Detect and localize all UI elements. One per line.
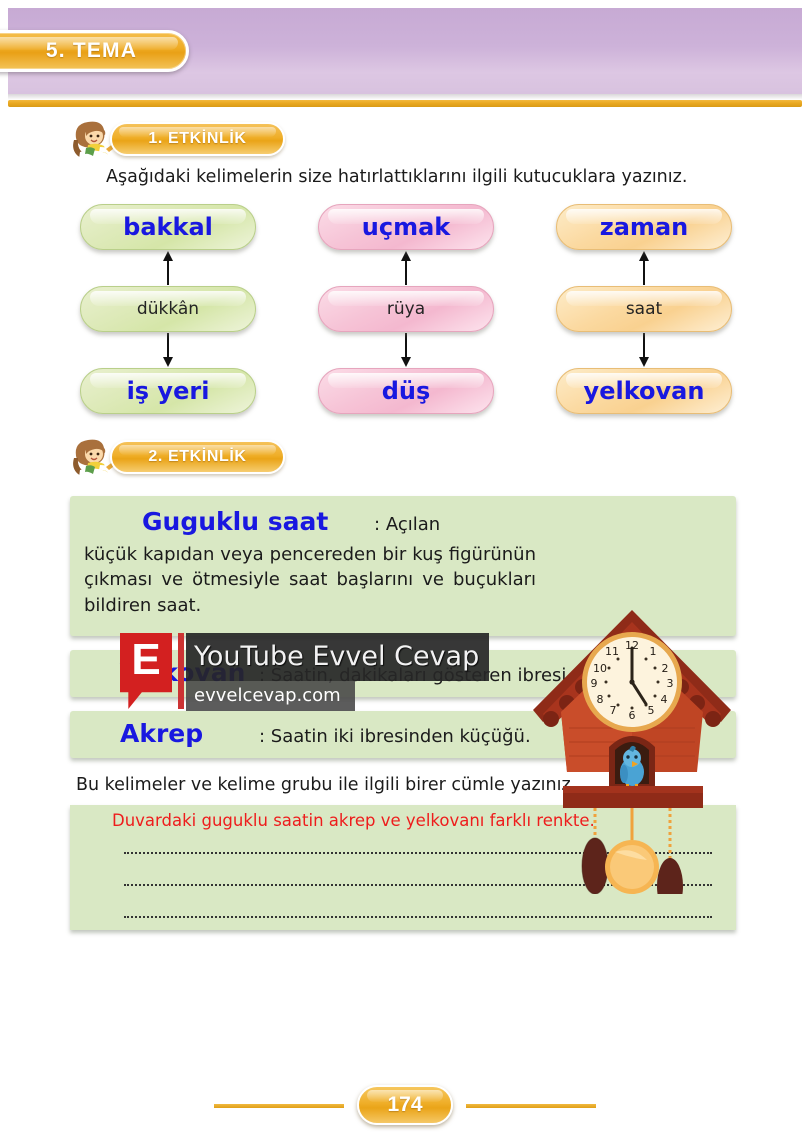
- svg-text:8: 8: [597, 693, 604, 706]
- word-pill-label: zaman: [600, 213, 688, 241]
- svg-text:7: 7: [610, 704, 617, 717]
- answer-line[interactable]: [124, 896, 712, 918]
- word-pill-top[interactable]: uçmak: [318, 204, 494, 250]
- word-pill-middle[interactable]: dükkân: [80, 286, 256, 332]
- evvelcevap-logo-icon: E: [120, 633, 172, 709]
- svg-text:5: 5: [648, 704, 655, 717]
- definition-body: küçük kapıdan veya pencereden bir kuş fi…: [84, 542, 536, 619]
- word-pill-bottom[interactable]: iş yeri: [80, 368, 256, 414]
- arrow-down: [399, 332, 413, 368]
- arrow-up: [161, 250, 175, 286]
- word-pill-label: uçmak: [362, 213, 450, 241]
- definition-term: Guguklu saat: [142, 507, 328, 536]
- word-pill-label: dükkân: [137, 299, 199, 319]
- cuckoo-clock-illustration: 12 1 2 3 4 5 6 7 8 9 10 11: [525, 604, 740, 894]
- definition-body: : Saatin iki ibresinden küçüğü.: [259, 726, 531, 747]
- word-pill-label: saat: [626, 299, 662, 319]
- watermark-subtitle: evvelcevap.com: [186, 681, 355, 711]
- word-pill-middle[interactable]: saat: [556, 286, 732, 332]
- word-pill-grid: bakkal dükkân iş yeri uçmak: [8, 204, 802, 414]
- page-number-badge: 174: [357, 1085, 453, 1125]
- word-pill-label: yelkovan: [584, 377, 705, 405]
- svg-text:9: 9: [591, 677, 598, 690]
- activity-1-header: 1. ETKİNLİK: [66, 118, 802, 164]
- header-divider-rule: [8, 100, 802, 107]
- theme-badge: 5. TEMA: [0, 30, 189, 72]
- word-column-2: uçmak rüya düş: [318, 204, 494, 414]
- arrow-up: [637, 250, 651, 286]
- activity-2-badge: 2. ETKİNLİK: [110, 440, 285, 474]
- activity-1-badge-label: 1. ETKİNLİK: [148, 130, 246, 148]
- page-footer: 174: [4, 1085, 806, 1125]
- activity-2-badge-label: 2. ETKİNLİK: [148, 448, 246, 466]
- textbook-page: 5. TEMA 1. ETKİNLİK: [0, 0, 810, 1143]
- activity-1-badge: 1. ETKİNLİK: [110, 122, 285, 156]
- watermark-overlay: E YouTube Evvel Cevap evvelcevap.com: [120, 633, 510, 721]
- svg-text:4: 4: [661, 693, 668, 706]
- word-column-1: bakkal dükkân iş yeri: [80, 204, 256, 414]
- logo-letter: E: [131, 633, 160, 687]
- word-column-3: zaman saat yelkovan: [556, 204, 732, 414]
- word-pill-top[interactable]: zaman: [556, 204, 732, 250]
- arrow-down: [637, 332, 651, 368]
- svg-text:2: 2: [662, 662, 669, 675]
- page-content: 1. ETKİNLİK Aşağıdaki kelimelerin size h…: [8, 108, 802, 1135]
- svg-text:3: 3: [667, 677, 674, 690]
- activity-2-header: 2. ETKİNLİK: [66, 436, 802, 482]
- svg-text:10: 10: [593, 662, 607, 675]
- svg-text:6: 6: [629, 709, 636, 722]
- footer-rule-right: [466, 1104, 596, 1108]
- arrow-up: [399, 250, 413, 286]
- watermark-title: YouTube Evvel Cevap: [186, 633, 489, 681]
- definition-colon: :: [374, 514, 380, 535]
- word-pill-label: rüya: [387, 299, 425, 319]
- definition-term: Akrep: [84, 719, 259, 748]
- arrow-down: [161, 332, 175, 368]
- word-pill-label: düş: [382, 377, 431, 405]
- svg-text:11: 11: [605, 645, 619, 658]
- theme-label: 5. TEMA: [16, 39, 137, 63]
- logo-accent-bar: [178, 633, 184, 709]
- definition-first-fragment: Açılan: [386, 514, 440, 535]
- word-pill-bottom[interactable]: yelkovan: [556, 368, 732, 414]
- word-pill-label: iş yeri: [127, 377, 210, 405]
- word-pill-label: bakkal: [123, 213, 213, 241]
- footer-rule-left: [214, 1104, 344, 1108]
- word-pill-middle[interactable]: rüya: [318, 286, 494, 332]
- word-pill-top[interactable]: bakkal: [80, 204, 256, 250]
- word-pill-bottom[interactable]: düş: [318, 368, 494, 414]
- activity-1-instruction: Aşağıdaki kelimelerin size hatırlattıkla…: [8, 164, 802, 190]
- page-number: 174: [387, 1093, 422, 1117]
- svg-text:1: 1: [650, 645, 657, 658]
